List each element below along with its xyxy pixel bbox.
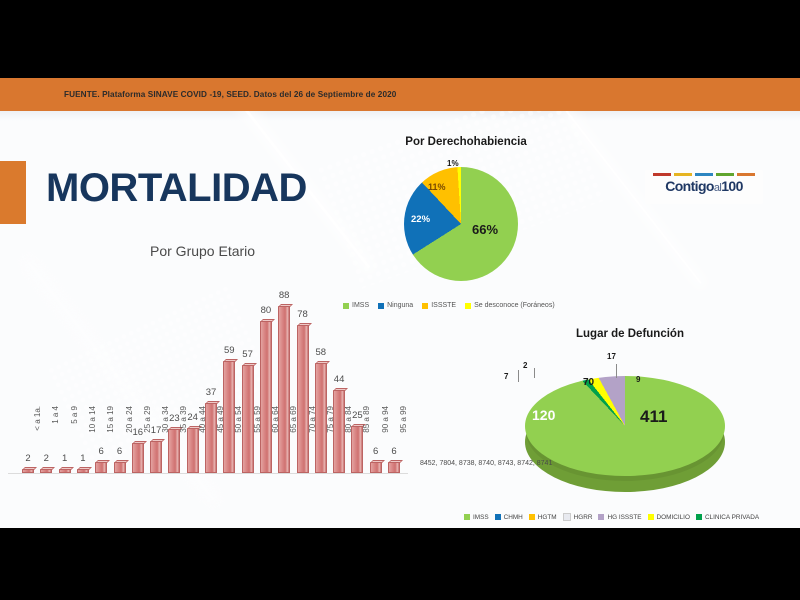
bar-category-label: 75 a 79 <box>326 406 335 476</box>
bar-category-label: 50 a 54 <box>234 406 243 476</box>
legend-item: HGRR <box>563 513 593 521</box>
legend-label: DOMICILIO <box>657 514 690 521</box>
bar <box>187 428 199 473</box>
legend-item: ISSSTE <box>422 302 456 309</box>
legend-swatch <box>648 514 654 520</box>
legend-swatch <box>529 514 535 520</box>
pie1-slice-label: 22% <box>411 214 430 225</box>
bar <box>114 462 126 473</box>
legend-swatch <box>464 514 470 520</box>
bar-value-label: 37 <box>198 387 224 398</box>
leader-line <box>616 364 617 378</box>
bar-category-label: 70 a 74 <box>308 406 317 476</box>
logo-dash <box>737 173 755 176</box>
pie-chart-lugar-defuncion: 4111207270179 <box>490 352 750 502</box>
bar <box>297 325 309 473</box>
bar <box>370 462 382 473</box>
logo-dash <box>695 173 713 176</box>
legend-swatch <box>563 513 571 521</box>
contigo-al-100-logo: Contigoal100 <box>645 170 763 204</box>
bar-category-label: 45 a 49 <box>216 406 225 476</box>
legend-item: Ninguna <box>378 302 413 309</box>
legend-label: HG ISSSTE <box>607 514 641 521</box>
logo-number: 100 <box>721 178 743 194</box>
pie1-slice-label: 66% <box>472 222 498 237</box>
pie1-title: Por Derechohabiencia <box>386 136 546 148</box>
leader-line <box>518 370 519 382</box>
legend-item: DOMICILIO <box>648 514 690 521</box>
bar-column <box>370 462 382 473</box>
bar-category-label: < a 1a. <box>33 406 42 476</box>
legend-swatch <box>465 303 471 309</box>
pie2-surface <box>525 376 725 476</box>
legend-label: HGTM <box>538 514 557 521</box>
pie1-legend: IMSSNingunaISSSTESe desconoce (Foráneos) <box>343 302 593 309</box>
source-text: FUENTE. Plataforma SINAVE COVID -19, SEE… <box>64 90 396 99</box>
legend-label: HGRR <box>574 514 593 521</box>
page-title: MORTALIDAD <box>46 166 307 211</box>
logo-text: Contigoal100 <box>645 178 763 194</box>
pie2-legend: IMSSCHMHHGTMHGRRHG ISSSTEDOMICILIOCLINIC… <box>464 513 784 521</box>
bar-value-label: 88 <box>271 290 297 301</box>
bar-category-label: 65 a 69 <box>289 406 298 476</box>
bar-value-label: 57 <box>235 349 261 360</box>
legend-swatch <box>422 303 428 309</box>
legend-label: IMSS <box>473 514 489 521</box>
bar-column <box>297 325 309 473</box>
legend-swatch <box>598 514 604 520</box>
bar-category-label: 85 a 89 <box>362 406 371 476</box>
logo-name: Contigo <box>665 178 714 194</box>
pie2-slice-label: 70 <box>583 377 594 388</box>
pie2-slice-label: 17 <box>607 352 616 361</box>
legend-item: IMSS <box>464 514 489 521</box>
legend-item: CHMH <box>495 514 523 521</box>
bar-category-label: 10 a 14 <box>88 406 97 476</box>
orange-accent-block <box>0 161 26 224</box>
bar-column <box>187 428 199 473</box>
logo-dashes <box>645 173 763 176</box>
legend-swatch <box>343 303 349 309</box>
pie1-slice-label: 1% <box>447 159 459 168</box>
pie2-slice-label: 2 <box>523 361 527 370</box>
bar-value-label: 44 <box>326 374 352 385</box>
bar-value-label: 80 <box>253 305 279 316</box>
legend-label: Ninguna <box>387 302 413 309</box>
bar-category-label: 5 a 9 <box>70 406 79 476</box>
legend-item: HGTM <box>529 514 557 521</box>
bar-category-label: 60 a 64 <box>271 406 280 476</box>
bar-column <box>242 365 254 473</box>
bar <box>242 365 254 473</box>
pie2-title: Lugar de Defunción <box>520 328 740 340</box>
pie2-slice-label: 411 <box>640 407 667 427</box>
top-black-band <box>0 0 800 78</box>
logo-dash <box>716 173 734 176</box>
legend-label: CLINICA PRIVADA <box>705 514 759 521</box>
bar-value-label: 58 <box>308 347 334 358</box>
bar-category-label: 1 a 4 <box>51 406 60 476</box>
bar-category-label: 20 a 24 <box>125 406 134 476</box>
legend-item: Se desconoce (Foráneos) <box>465 302 555 309</box>
pie2-slice-label: 7 <box>504 372 508 381</box>
legend-item: IMSS <box>343 302 369 309</box>
bar-value-label: 78 <box>290 309 316 320</box>
pie2-slice-label: 120 <box>532 407 555 423</box>
logo-dash <box>674 173 692 176</box>
bottom-black-band <box>0 528 800 600</box>
bar-category-label: 95 a 99 <box>399 406 408 476</box>
pie2-slice-label: 9 <box>636 375 640 384</box>
legend-swatch <box>495 514 501 520</box>
bar-category-label: 40 a 44 <box>198 406 207 476</box>
legend-swatch <box>696 514 702 520</box>
screenshot-root: FUENTE. Plataforma SINAVE COVID -19, SEE… <box>0 0 800 600</box>
legend-label: Se desconoce (Foráneos) <box>474 302 555 309</box>
pie1-slice-label: 11% <box>428 182 446 192</box>
legend-label: CHMH <box>504 514 523 521</box>
bar-category-label: 15 a 19 <box>106 406 115 476</box>
legend-label: ISSSTE <box>431 302 456 309</box>
bar-category-label: 90 a 94 <box>381 406 390 476</box>
bar-category-label: 55 a 59 <box>253 406 262 476</box>
leader-line <box>534 368 535 378</box>
bar-chart-title: Por Grupo Etario <box>150 243 255 259</box>
bar-column <box>114 462 126 473</box>
note-numbers: 8452, 7804, 8738, 8740, 8743, 8742, 8741 <box>420 459 552 469</box>
logo-dash <box>653 173 671 176</box>
legend-label: IMSS <box>352 302 369 309</box>
legend-swatch <box>378 303 384 309</box>
legend-item: CLINICA PRIVADA <box>696 514 759 521</box>
bar-category-label: 25 a 29 <box>143 406 152 476</box>
legend-item: HG ISSSTE <box>598 514 641 521</box>
